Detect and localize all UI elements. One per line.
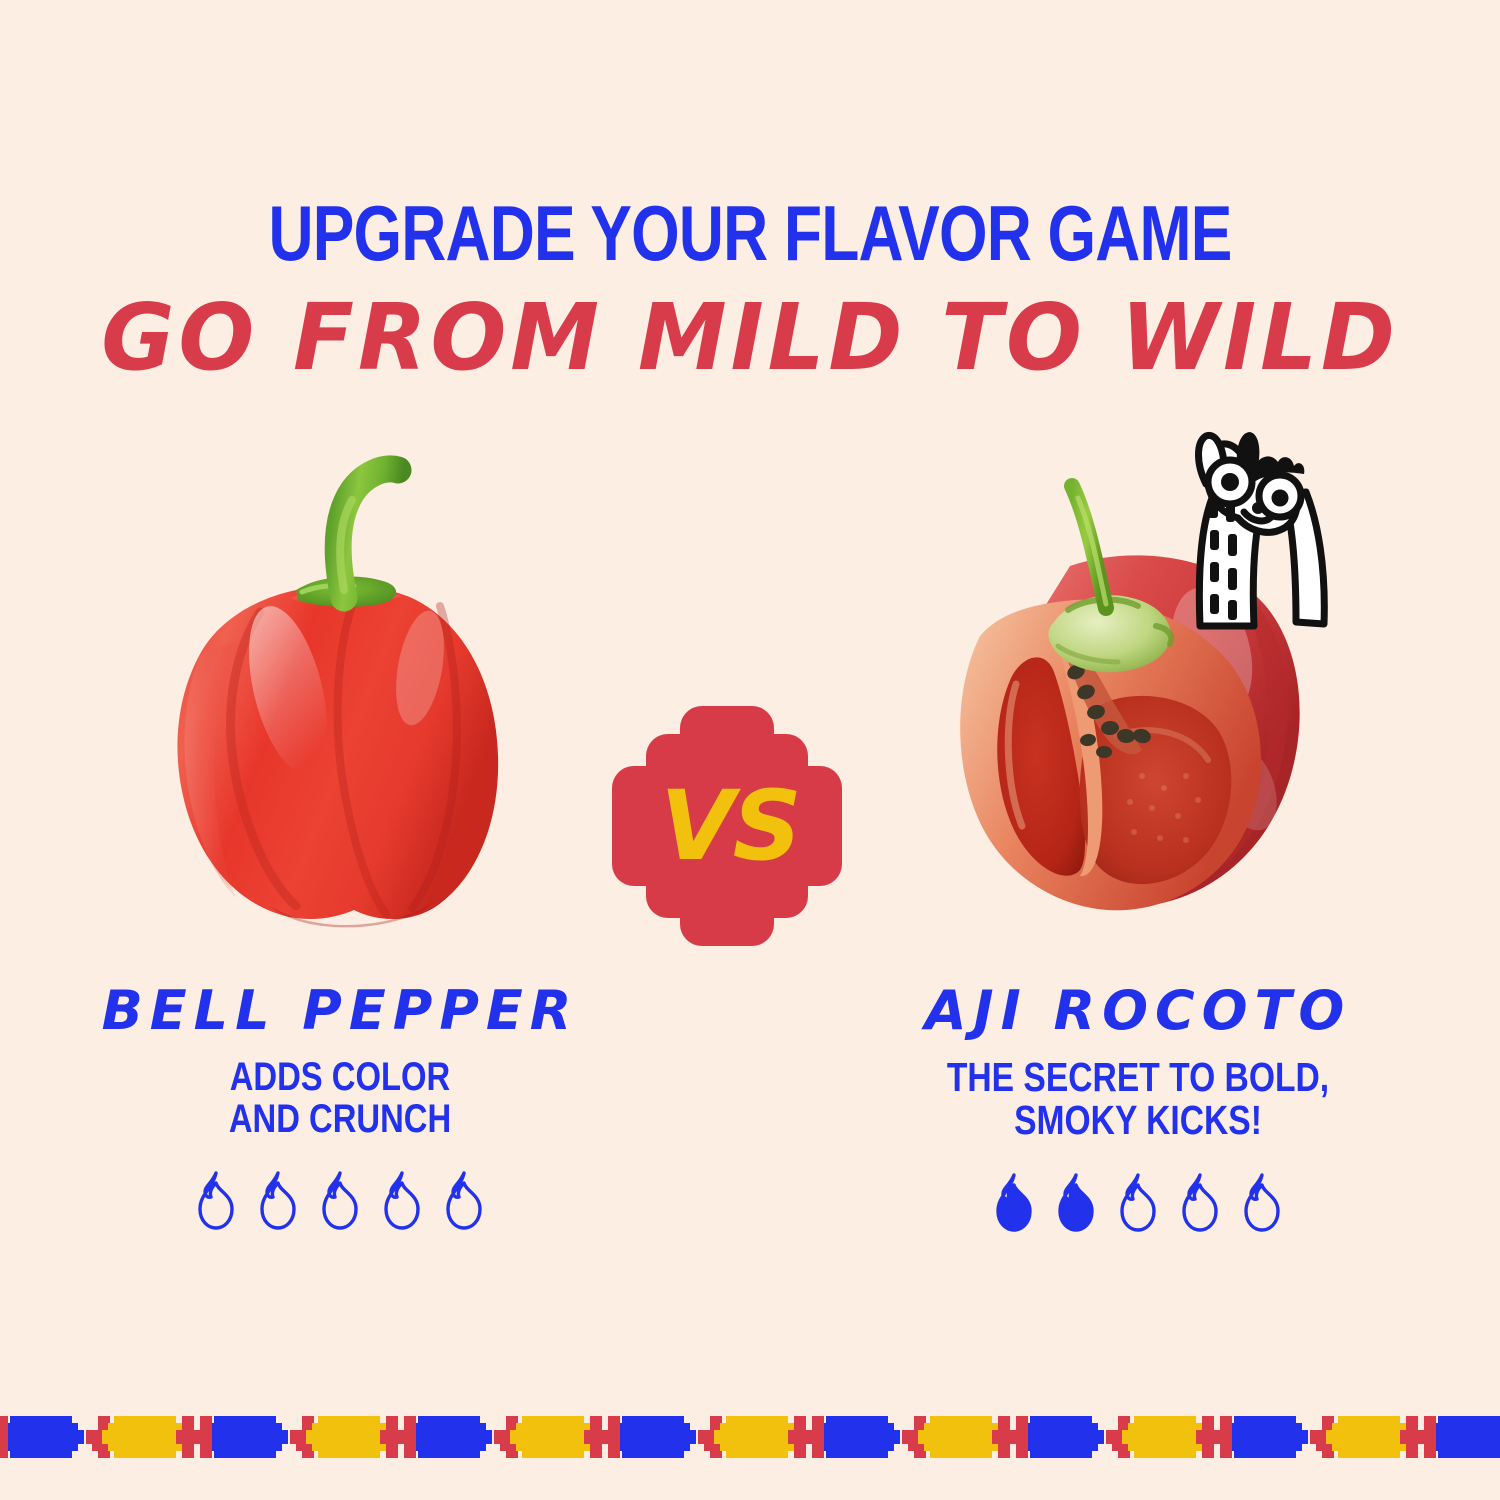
headline-block: UPGRADE YOUR FLAVOR GAME — [0, 196, 1500, 270]
comparison-column-left: BELL PEPPER ADDS COLOR AND CRUNCH — [30, 440, 650, 1232]
comparison-column-right: AJI ROCOTO THE SECRET TO BOLD, SMOKY KIC… — [828, 440, 1448, 1234]
vs-badge: VS — [598, 702, 856, 950]
vs-label: VS — [598, 702, 856, 950]
bell-pepper-photo — [30, 440, 650, 940]
llama-mascot-doodle — [1166, 426, 1356, 646]
poster-canvas: UPGRADE YOUR FLAVOR GAME GO FROM MILD TO… — [0, 0, 1500, 1500]
flame-icon — [188, 1166, 244, 1232]
flame-icon — [312, 1166, 368, 1232]
flame-icon — [436, 1166, 492, 1232]
flame-icon — [1172, 1168, 1228, 1234]
flame-icon — [986, 1168, 1042, 1234]
aji-rocoto-photo — [828, 440, 1448, 940]
flame-icon — [1110, 1168, 1166, 1234]
right-heat-rating — [828, 1168, 1448, 1234]
flame-icon — [250, 1166, 306, 1232]
left-product-title: BELL PEPPER — [30, 984, 650, 1038]
flame-icon — [1048, 1168, 1104, 1234]
right-product-title: AJI ROCOTO — [828, 984, 1448, 1038]
left-heat-rating — [30, 1166, 650, 1232]
left-product-description: ADDS COLOR AND CRUNCH — [86, 1056, 594, 1140]
footer-pattern — [0, 1412, 1500, 1462]
flame-icon — [374, 1166, 430, 1232]
page-title: UPGRADE YOUR FLAVOR GAME — [150, 196, 1350, 270]
flame-icon — [1234, 1168, 1290, 1234]
page-subtitle: GO FROM MILD TO WILD — [23, 292, 1478, 384]
right-product-description: THE SECRET TO BOLD, SMOKY KICKS! — [884, 1056, 1392, 1142]
